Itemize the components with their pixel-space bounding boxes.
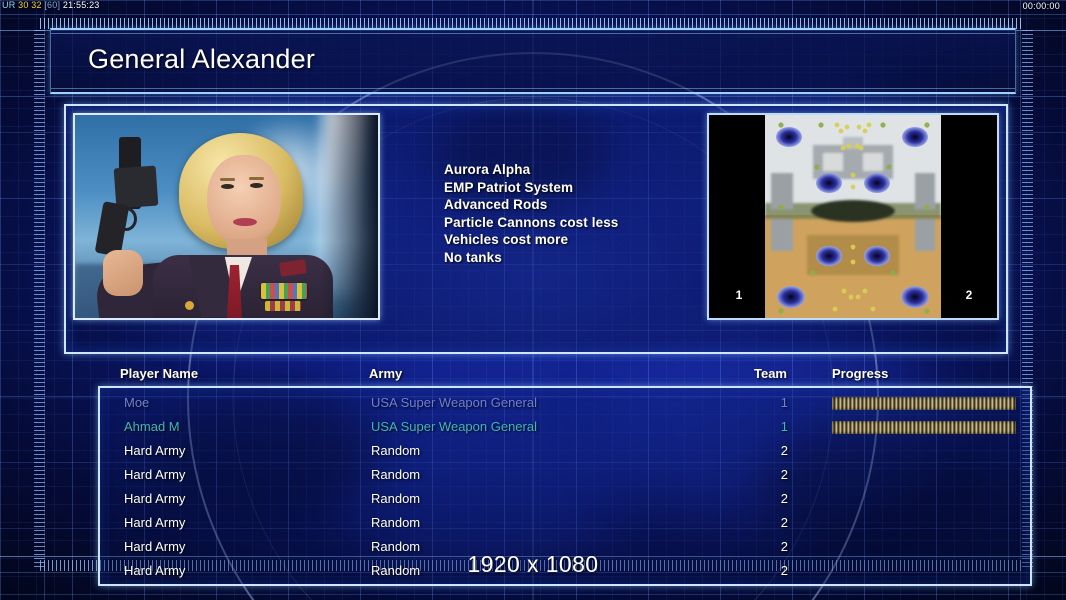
fps-overlay: UR 30 32 [60] 21:55:23 [2,0,100,11]
session-timer: 21:55:23 [63,0,100,10]
map-preview[interactable]: 1 2 [707,113,999,320]
player-team-cell: 1 [760,395,788,410]
portrait-brow-right [249,177,264,180]
map-image [765,115,941,318]
player-name-cell: Moe [124,395,149,410]
bonus-item-5: No tanks [444,249,744,267]
progress-bar [832,421,1016,434]
bonus-item-1: EMP Patriot System [444,179,744,197]
player-army-cell: USA Super Weapon General [371,395,537,410]
bonus-item-0: Aurora Alpha [444,161,744,179]
player-army-cell: Random [371,515,420,530]
titlebar-line-top [51,33,1015,34]
table-row[interactable]: Hard ArmyRandom2 [100,440,1030,464]
player-army-cell: USA Super Weapon General [371,419,537,434]
clock-overlay: 00:00:00 [1023,1,1060,12]
player-team-cell: 2 [760,443,788,458]
portrait-eye-right [250,183,263,188]
medal-ribbons-secondary-icon [265,301,301,311]
portrait-eye-left [221,184,234,189]
general-portrait [73,113,380,320]
portrait-hand [103,250,143,296]
player-name-cell: Hard Army [124,491,185,506]
player-team-cell: 2 [760,467,788,482]
map-terrain [765,115,941,318]
player-name-cell: Hard Army [124,443,185,458]
table-row[interactable]: Hard ArmyRandom2 [100,464,1030,488]
portrait-brow-left [220,178,235,181]
map-start-position-1: 1 [729,285,749,305]
uniform-button-1 [185,301,194,310]
window-titlebar: General Alexander [50,28,1016,94]
player-progress-cell [832,421,1016,434]
player-table-header: Player Name Army Team Progress [52,366,1012,386]
player-name-cell: Ahmad M [124,419,180,434]
resolution-caption: 1920 x 1080 [0,551,1066,578]
bonus-item-3: Particle Cannons cost less [444,214,744,232]
uniform-button-2 [169,319,178,320]
progress-bar [832,397,1016,410]
portrait-face [207,155,281,247]
general-bonus-list: Aurora Alpha EMP Patriot System Advanced… [444,161,744,267]
column-header-progress: Progress [832,366,888,381]
general-detail-panel: Aurora Alpha EMP Patriot System Advanced… [64,104,1008,354]
bonus-item-2: Advanced Rods [444,196,744,214]
player-army-cell: Random [371,467,420,482]
map-start-position-2: 2 [959,285,979,305]
fps-label: UR [2,0,15,10]
column-header-player-name: Player Name [120,366,198,381]
titlebar-line-bottom [51,88,1015,89]
fps-value-secondary: 32 [31,0,41,10]
player-name-cell: Hard Army [124,515,185,530]
general-info-window: General Alexander [38,28,1026,558]
column-header-team: Team [754,366,787,381]
portrait-vignette [320,115,378,318]
player-army-cell: Random [371,443,420,458]
fps-limit: [60] [44,0,60,10]
page-title: General Alexander [88,44,315,75]
pistol-slide-icon [114,166,159,209]
player-team-cell: 1 [760,419,788,434]
table-row[interactable]: MoeUSA Super Weapon General1 [100,392,1030,416]
table-row[interactable]: Hard ArmyRandom2 [100,512,1030,536]
bg-rule-1 [0,14,1066,15]
portrait-lips [233,218,257,226]
table-row[interactable]: Ahmad MUSA Super Weapon General1 [100,416,1030,440]
fps-value: 30 [18,0,28,10]
bonus-item-4: Vehicles cost more [444,231,744,249]
player-progress-cell [832,397,1016,410]
table-row[interactable]: Hard ArmyRandom2 [100,488,1030,512]
player-name-cell: Hard Army [124,467,185,482]
player-team-cell: 2 [760,515,788,530]
player-team-cell: 2 [760,491,788,506]
column-header-army: Army [369,366,402,381]
player-army-cell: Random [371,491,420,506]
medal-ribbons-icon [261,283,307,299]
